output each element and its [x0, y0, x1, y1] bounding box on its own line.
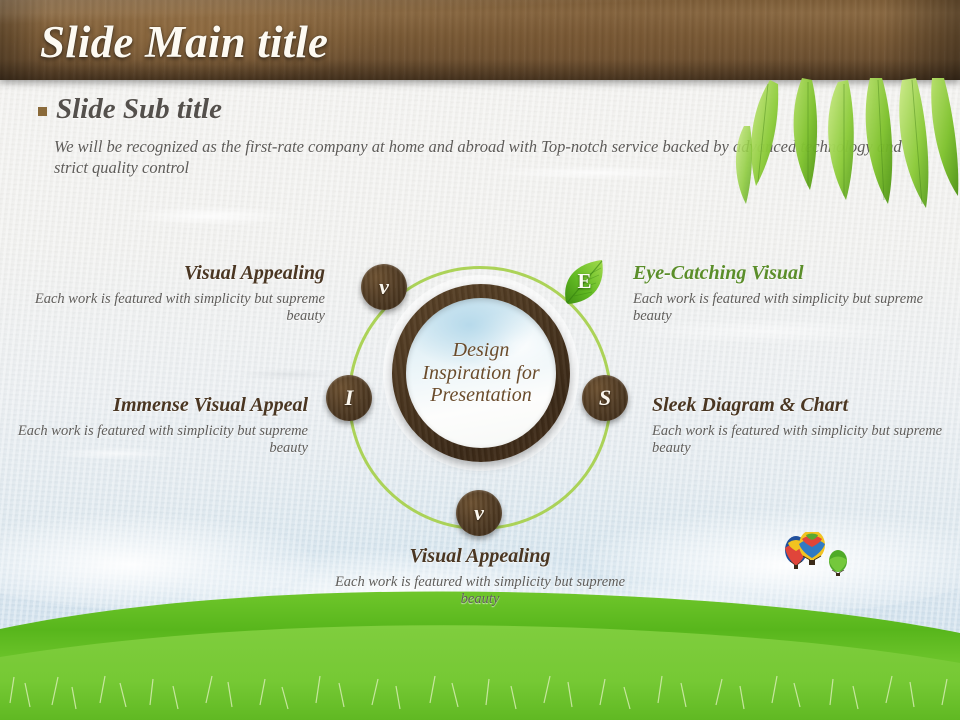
node-letter: v: [379, 274, 389, 300]
label-immense-visual-appeal[interactable]: Immense Visual Appeal Each work is featu…: [0, 394, 308, 458]
label-sleek-diagram-chart[interactable]: Sleek Diagram & Chart Each work is featu…: [652, 394, 960, 458]
diagram-node-i-left[interactable]: I: [326, 375, 372, 421]
label-title: Visual Appealing: [330, 545, 630, 568]
page-title: Slide Main title: [40, 16, 328, 68]
diagram-center-text: Design Inspiration for Presentation: [406, 339, 556, 406]
diagram-node-v-bottom[interactable]: v: [456, 490, 502, 536]
node-letter: S: [599, 385, 611, 411]
diagram-node-e-leaf[interactable]: E: [558, 256, 612, 310]
hot-air-balloons-icon: [778, 532, 854, 588]
node-letter: E: [577, 269, 591, 294]
diagram-node-s-right[interactable]: S: [582, 375, 628, 421]
title-banner: Slide Main title: [0, 0, 960, 80]
label-title: Visual Appealing: [0, 262, 325, 285]
label-body: Each work is featured with simplicity bu…: [330, 574, 630, 609]
label-visual-appealing-bottom[interactable]: Visual Appealing Each work is featured w…: [330, 545, 630, 609]
label-title: Sleek Diagram & Chart: [652, 394, 960, 417]
label-eye-catching-visual[interactable]: Eye-Catching Visual Each work is feature…: [633, 262, 960, 326]
node-letter: I: [345, 385, 354, 411]
label-visual-appealing-top-left[interactable]: Visual Appealing Each work is featured w…: [0, 262, 325, 326]
diagram-node-v-top-left[interactable]: v: [361, 264, 407, 310]
node-letter: v: [474, 500, 484, 526]
square-bullet-icon: [38, 107, 47, 116]
subtitle-row: Slide Sub title: [38, 93, 222, 126]
label-body: Each work is featured with simplicity bu…: [633, 291, 960, 326]
diagram-center[interactable]: Design Inspiration for Presentation: [392, 284, 570, 462]
label-body: Each work is featured with simplicity bu…: [0, 423, 308, 458]
label-title: Immense Visual Appeal: [0, 394, 308, 417]
label-body: Each work is featured with simplicity bu…: [0, 291, 325, 326]
diagram-center-inner: Design Inspiration for Presentation: [406, 298, 556, 448]
circle-diagram: Design Inspiration for Presentation v: [330, 248, 630, 548]
label-body: Each work is featured with simplicity bu…: [652, 423, 960, 458]
label-title: Eye-Catching Visual: [633, 262, 960, 285]
slide-canvas: Slide Main title Slide Sub title We will…: [0, 0, 960, 720]
lead-paragraph: We will be recognized as the first-rate …: [54, 136, 914, 178]
subtitle-text: Slide Sub title: [56, 93, 222, 126]
